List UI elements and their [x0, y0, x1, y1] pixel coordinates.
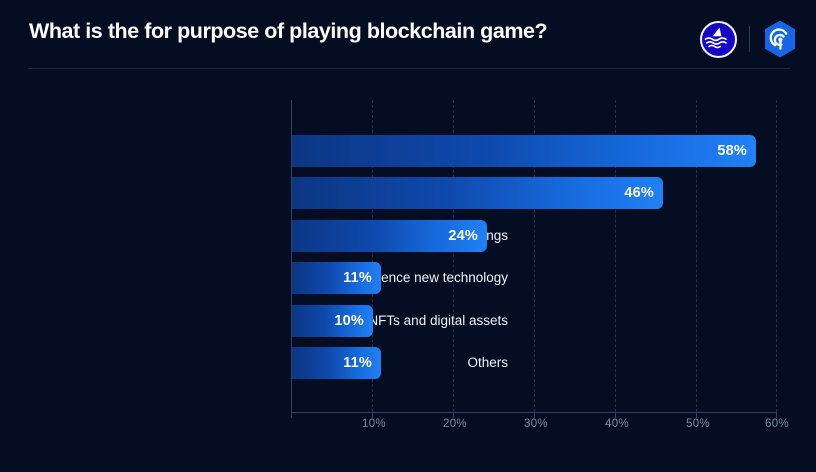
x-tick-label: 50% [668, 418, 728, 430]
x-tick-label: 30% [506, 418, 566, 430]
axis-tick [291, 413, 292, 418]
bar[interactable]: 58% [292, 135, 756, 167]
bar[interactable]: 46% [292, 177, 663, 209]
bar-row: To enjoy the game 46% [0, 177, 816, 209]
bar-chart: To pass the time 58% To enjoy the game 4… [0, 0, 816, 472]
bar-value-label: 58% [717, 135, 747, 167]
bar-value-label: 24% [448, 220, 478, 252]
bar-value-label: 11% [343, 347, 372, 379]
bar-row: To pass the time 58% [0, 135, 816, 167]
bar-value-label: 46% [624, 177, 654, 209]
bar[interactable]: 11% [292, 262, 381, 294]
bar-row: To make earnings 24% [0, 220, 816, 252]
bar[interactable]: 10% [292, 305, 373, 337]
bar-value-label: 10% [334, 305, 364, 337]
bar-value-label: 11% [343, 262, 372, 294]
bar[interactable]: 11% [292, 347, 381, 379]
x-tick-label: 20% [425, 418, 485, 430]
bar-row: To collect of NFTs and digital assets 10… [0, 305, 816, 337]
x-tick-label: 40% [587, 418, 647, 430]
chart-page: What is the for purpose of playing block… [0, 0, 816, 472]
x-tick-label: 10% [344, 418, 404, 430]
bar-row: To experience new technology 11% [0, 262, 816, 294]
bar-row: Others 11% [0, 347, 816, 379]
category-label: Others [467, 347, 508, 379]
bar[interactable]: 24% [292, 220, 487, 252]
x-tick-label: 60% [747, 418, 807, 430]
